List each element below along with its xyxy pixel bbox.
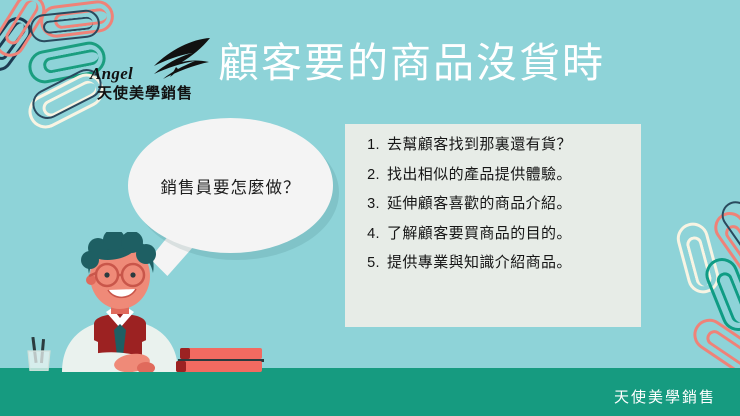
- list-item-number: 2.: [359, 168, 380, 183]
- paperclip-inner: [42, 16, 93, 34]
- list-item-number: 4.: [359, 227, 380, 242]
- pencil-cup-illustration: [24, 337, 54, 371]
- list-item-number: 1.: [359, 138, 380, 153]
- list-item-text: 了解顧客要買商品的目的。: [387, 226, 572, 241]
- list-item: 1. 去幫顧客找到那裏還有貨？: [359, 137, 631, 153]
- list-item: 4. 了解顧客要買商品的目的。: [359, 226, 631, 242]
- wing-icon: [140, 36, 212, 82]
- logo-script-text: Angel: [90, 64, 133, 84]
- brand-logo: Angel 天使美學銷售: [88, 38, 206, 104]
- list-item: 5. 提供專業與知識介紹商品。: [359, 255, 631, 271]
- paperclip-inner: [714, 270, 740, 325]
- answer-list-panel: 1. 去幫顧客找到那裏還有貨？ 2. 找出相似的產品提供體驗。 3. 延伸顧客喜…: [345, 124, 641, 327]
- list-item-text: 去幫顧客找到那裏還有貨？: [387, 137, 572, 152]
- slide-canvas: Angel 天使美學銷售 顧客要的商品沒貨時 銷售員要怎麼做？ 1. 去幫顧客找…: [0, 0, 740, 416]
- answer-list: 1. 去幫顧客找到那裏還有貨？ 2. 找出相似的產品提供體驗。 3. 延伸顧客喜…: [345, 124, 641, 271]
- list-item: 2. 找出相似的產品提供體驗。: [359, 167, 631, 183]
- list-item-text: 提供專業與知識介紹商品。: [387, 255, 572, 270]
- paperclip-inner: [703, 327, 740, 369]
- list-item-number: 5.: [359, 256, 380, 271]
- list-item-text: 延伸顧客喜歡的商品介紹。: [387, 196, 572, 211]
- footer-brand: 天使美學銷售: [614, 386, 716, 407]
- list-item-text: 找出相似的產品提供體驗。: [387, 167, 572, 182]
- books-illustration: [176, 348, 266, 372]
- list-item: 3. 延伸顧客喜歡的商品介紹。: [359, 196, 631, 212]
- page-title: 顧客要的商品沒貨時: [218, 43, 605, 84]
- logo-chinese-text: 天使美學銷售: [89, 82, 201, 103]
- list-item-number: 3.: [359, 197, 380, 212]
